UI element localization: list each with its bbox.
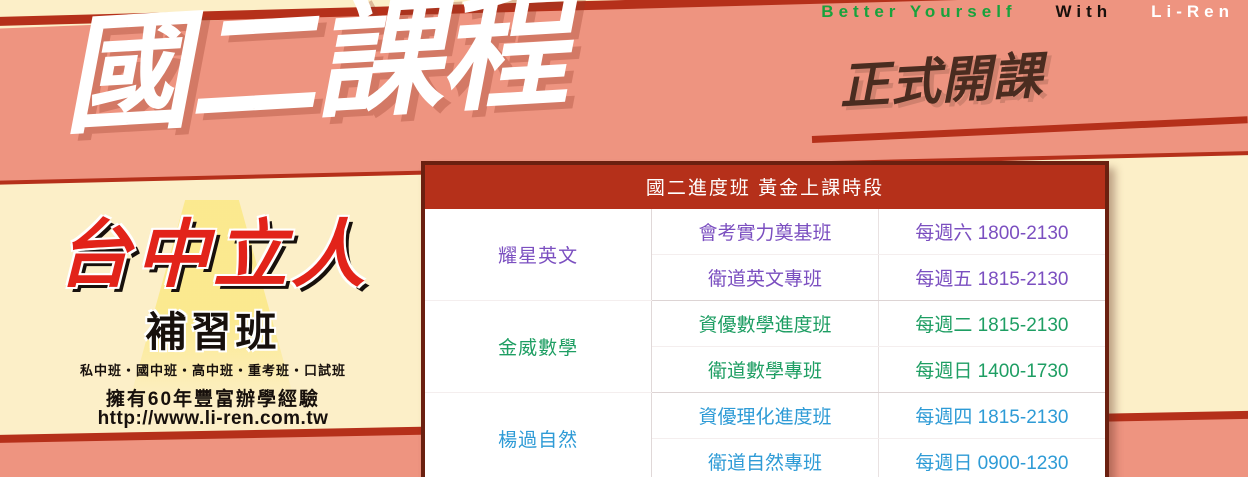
brand-experience: 擁有60年豐富辦學經驗 <box>28 384 398 411</box>
class-time-cell: 每週日 0900-1230 <box>878 439 1105 477</box>
class-name-cell: 資優理化進度班 <box>652 393 879 439</box>
class-name-cell: 衛道自然專班 <box>652 439 879 477</box>
promo-banner: Better Yourself With Li-Ren 國二課程 正式開課 台中… <box>0 0 1248 477</box>
subject-cell: 金威數學 <box>425 301 652 393</box>
tagline-part-3: Li-Ren <box>1151 2 1234 21</box>
brand-categories: 私中班・國中班・高中班・重考班・口試班 <box>28 360 398 379</box>
class-time-cell: 每週五 1815-2130 <box>878 255 1105 301</box>
subtitle-underline <box>812 116 1248 143</box>
table-row: 楊過自然資優理化進度班每週四 1815-2130 <box>425 393 1105 439</box>
page-subtitle: 正式開課 <box>838 51 1044 112</box>
table-header-row: 國二進度班 黃金上課時段 <box>425 165 1105 209</box>
subject-cell: 耀星英文 <box>425 209 652 301</box>
table-row: 耀星英文會考實力奠基班每週六 1800-2130 <box>425 209 1105 255</box>
class-time-cell: 每週日 1400-1730 <box>878 347 1105 393</box>
class-time-cell: 每週四 1815-2130 <box>878 393 1105 439</box>
subject-cell: 楊過自然 <box>425 393 652 477</box>
brand-subname: 補習班 <box>28 312 398 353</box>
class-time-cell: 每週六 1800-2130 <box>878 209 1105 255</box>
brand-website-link[interactable]: http://www.li-ren.com.tw <box>28 408 398 430</box>
schedule-table: 國二進度班 黃金上課時段 耀星英文會考實力奠基班每週六 1800-2130衛道英… <box>421 161 1109 477</box>
class-name-cell: 會考實力奠基班 <box>652 209 879 255</box>
schedule-title: 國二進度班 黃金上課時段 <box>425 165 1105 209</box>
page-title: 國二課程 <box>58 0 569 142</box>
brand-logo: 台中立人 補習班 私中班・國中班・高中班・重考班・口試班 擁有60年豐富辦學經驗… <box>28 196 398 432</box>
table-row: 金威數學資優數學進度班每週二 1815-2130 <box>425 301 1105 347</box>
class-name-cell: 衛道英文專班 <box>652 255 879 301</box>
class-name-cell: 資優數學進度班 <box>652 301 879 347</box>
tagline-part-1: Better Yourself <box>821 2 1016 21</box>
class-time-cell: 每週二 1815-2130 <box>878 301 1105 347</box>
tagline-part-2: With <box>1056 2 1113 21</box>
class-name-cell: 衛道數學專班 <box>652 347 879 393</box>
brand-name: 台中立人 <box>28 218 398 292</box>
